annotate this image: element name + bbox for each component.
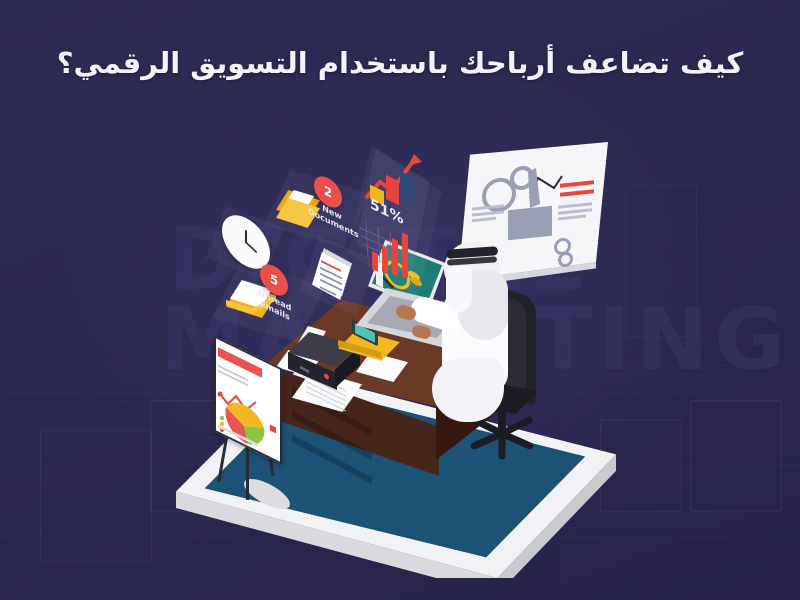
stats-bar-chart: [356, 148, 430, 278]
thobe-skirt: [432, 358, 504, 422]
bg-panel-5: [625, 185, 697, 337]
businessman: [432, 240, 552, 430]
bg-panel-4: [690, 400, 782, 512]
poster-canvas: DIGITAL MARKETING كيف تضاعف أرباحك باستخ…: [0, 0, 800, 600]
bg-panel-1: [40, 430, 152, 562]
document-icon: [312, 248, 356, 302]
stats-panel: 51%: [356, 148, 430, 278]
presentation-easel: [206, 352, 296, 502]
ghutra-front-fold: [446, 266, 472, 312]
clock-hand-minute: [245, 241, 258, 254]
page-title: كيف تضاعف أرباحك باستخدام التسويق الرقمي…: [0, 44, 800, 83]
chair-leg-5: [499, 434, 506, 460]
